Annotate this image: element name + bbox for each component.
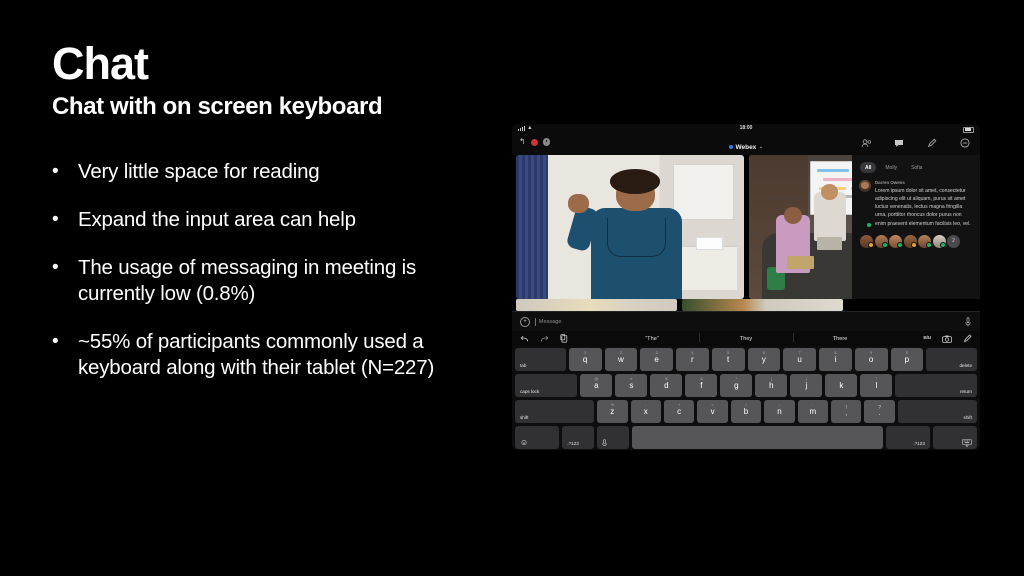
list-item: • ~55% of participants commonly used a k…	[52, 329, 482, 381]
slide: Chat Chat with on screen keyboard • Very…	[0, 0, 1024, 576]
list-item: • Very little space for reading	[52, 159, 482, 185]
key-k[interactable]: 'k	[825, 374, 857, 397]
key-l[interactable]: "l	[860, 374, 892, 397]
bullet-marker: •	[52, 255, 78, 281]
key-p[interactable]: 0p	[891, 348, 924, 371]
person-decor	[814, 192, 846, 241]
status-bar: ▲ 18:00	[512, 124, 980, 133]
avatar[interactable]	[889, 235, 902, 248]
key-r[interactable]: 4r	[676, 348, 709, 371]
filmstrip-thumb[interactable]	[516, 299, 677, 311]
keyboard-row-1: tab 1q 2w 3e 4r 5t 6y 7u 8i 9o 0p delete	[515, 348, 977, 371]
bullet-marker: •	[52, 159, 78, 185]
laptop-decor	[817, 237, 842, 250]
predictive-text-bar: “The” They There B/U	[512, 331, 980, 346]
chat-message-body: Darren Owens Lorem ipsum dolor sit amet,…	[875, 180, 973, 228]
text-cursor	[535, 318, 536, 326]
stethoscope-decor	[607, 218, 666, 256]
annotate-pencil-icon[interactable]	[926, 137, 938, 149]
keyboard-row-3: shift %z -x +c =v /b ;n :m !, ?. shift	[515, 400, 977, 423]
supply-box-decor	[696, 237, 723, 251]
chevron-down-icon[interactable]: ⌄	[759, 144, 763, 150]
message-input-placeholder: Message	[539, 319, 562, 325]
bullet-text: ~55% of participants commonly used a key…	[78, 329, 482, 381]
filmstrip-spacer	[848, 299, 976, 311]
avatar[interactable]	[904, 235, 917, 248]
list-item: • The usage of messaging in meeting is c…	[52, 255, 482, 307]
chat-panel: All Molly Sofia Darren Owens Lorem ipsum…	[852, 155, 980, 299]
person-face-decor	[821, 184, 838, 200]
participants-icon[interactable]	[860, 137, 872, 149]
key-m[interactable]: :m	[798, 400, 828, 423]
status-dot-icon	[729, 145, 733, 149]
battery-icon	[963, 127, 974, 133]
key-s[interactable]: #s	[615, 374, 647, 397]
key-t[interactable]: 5t	[712, 348, 745, 371]
attach-pencil-icon[interactable]	[963, 334, 972, 343]
participant-avatar-row: 2	[852, 228, 980, 248]
text-column: Chat Chat with on screen keyboard • Very…	[52, 40, 482, 403]
person-face-decor	[784, 207, 802, 224]
key-n[interactable]: ;n	[764, 400, 794, 423]
suggestion-2[interactable]: They	[699, 336, 793, 342]
bullet-text: Very little space for reading	[78, 159, 319, 185]
suggestion-3[interactable]: There	[793, 336, 887, 342]
chat-message-author: Darren Owens	[875, 180, 973, 185]
page-subtitle: Chat with on screen keyboard	[52, 93, 482, 121]
chat-message-text: Lorem ipsum dolor sit amet, consectetur …	[875, 187, 973, 228]
plus-circle-icon[interactable]: +	[520, 317, 530, 327]
video-stage: All Molly Sofia Darren Owens Lorem ipsum…	[512, 155, 980, 299]
chat-message: Darren Owens Lorem ipsum dolor sit amet,…	[852, 178, 980, 228]
keyboard-row-4: ☺ .?123 .?123	[515, 426, 977, 449]
bullet-marker: •	[52, 329, 78, 355]
laptop-decor	[787, 256, 814, 269]
key-return[interactable]: return	[895, 374, 977, 397]
avatar	[859, 180, 871, 192]
bullet-list: • Very little space for reading • Expand…	[52, 159, 482, 381]
key-hide-keyboard[interactable]	[933, 426, 977, 449]
key-u[interactable]: 7u	[783, 348, 816, 371]
curtain-decor	[516, 155, 548, 299]
dictation-icon	[602, 439, 607, 447]
text-format-icon[interactable]: B/U	[923, 336, 931, 341]
avatar[interactable]	[875, 235, 888, 248]
cabinet-decor	[673, 164, 734, 221]
avatar-overflow-badge[interactable]: 2	[947, 235, 960, 248]
key-j[interactable]: )j	[790, 374, 822, 397]
presence-dot-icon	[866, 222, 872, 228]
hair-decor	[610, 169, 660, 193]
avatar[interactable]	[860, 235, 873, 248]
key-i[interactable]: 8i	[819, 348, 852, 371]
avatar-wrap	[859, 180, 871, 228]
on-screen-keyboard: tab 1q 2w 3e 4r 5t 6y 7u 8i 9o 0p delete…	[512, 346, 980, 450]
clinician-video-art	[516, 155, 744, 299]
key-f[interactable]: &f	[685, 374, 717, 397]
key-shift-right[interactable]: shift	[898, 400, 977, 423]
key-o[interactable]: 9o	[855, 348, 888, 371]
key-z[interactable]: %z	[597, 400, 627, 423]
chat-tab-all[interactable]: All	[860, 162, 876, 173]
camera-icon[interactable]	[942, 335, 952, 343]
key-w[interactable]: 2w	[605, 348, 638, 371]
chat-filter-tabs: All Molly Sofia	[852, 155, 980, 178]
meeting-header-icons	[860, 137, 971, 149]
microphone-icon[interactable]	[965, 317, 971, 327]
chat-tab-molly[interactable]: Molly	[880, 162, 902, 173]
key-caps-lock[interactable]: caps lock	[515, 374, 577, 397]
editing-tools	[520, 334, 568, 343]
video-tile-clinician[interactable]	[516, 155, 744, 299]
key-emoji[interactable]: ☺	[515, 426, 559, 449]
key-e[interactable]: 3e	[640, 348, 673, 371]
key-a[interactable]: @a	[580, 374, 612, 397]
key-h[interactable]: (h	[755, 374, 787, 397]
emoji-icon: ☺	[520, 439, 528, 447]
key-q[interactable]: 1q	[569, 348, 602, 371]
suggestion-1[interactable]: “The”	[605, 336, 699, 342]
avatar[interactable]	[933, 235, 946, 248]
meeting-app-name-row: Webex ⌄	[729, 144, 763, 151]
filmstrip-thumb[interactable]	[682, 299, 843, 311]
bullet-marker: •	[52, 207, 78, 233]
hide-keyboard-icon	[962, 439, 972, 447]
key-x[interactable]: -x	[631, 400, 661, 423]
key-comma[interactable]: !,	[831, 400, 861, 423]
key-period[interactable]: ?.	[864, 400, 894, 423]
message-input-bar[interactable]: + Message	[512, 311, 980, 331]
more-options-icon[interactable]	[959, 137, 971, 149]
status-bar-time: 18:00	[512, 125, 980, 131]
key-numbers-right[interactable]: .?123	[886, 426, 930, 449]
key-tab[interactable]: tab	[515, 348, 566, 371]
key-dictation[interactable]	[597, 426, 629, 449]
tablet-mockup: ▲ 18:00 ↰ Webex ⌄ 12:40	[512, 124, 980, 450]
redo-icon[interactable]	[540, 335, 549, 343]
list-item: • Expand the input area can help	[52, 207, 482, 233]
bullet-text: Expand the input area can help	[78, 207, 356, 233]
key-shift-left[interactable]: shift	[515, 400, 594, 423]
key-delete[interactable]: delete	[926, 348, 977, 371]
predictive-suggestions: “The” They There	[512, 336, 980, 342]
page-title: Chat	[52, 40, 482, 87]
chat-tab-sofia[interactable]: Sofia	[906, 162, 927, 173]
meeting-app-name: Webex	[735, 144, 756, 151]
bullet-text: The usage of messaging in meeting is cur…	[78, 255, 482, 307]
key-space[interactable]	[632, 426, 882, 449]
waving-hand-decor	[568, 194, 588, 213]
chat-bubble-icon[interactable]	[893, 137, 905, 149]
meeting-header: ↰ Webex ⌄ 12:40	[512, 133, 980, 155]
avatar[interactable]	[918, 235, 931, 248]
paste-icon[interactable]	[560, 334, 568, 343]
format-tools: B/U	[923, 334, 972, 343]
key-d[interactable]: $d	[650, 374, 682, 397]
key-g[interactable]: *g	[720, 374, 752, 397]
key-y[interactable]: 6y	[748, 348, 781, 371]
key-c[interactable]: +c	[664, 400, 694, 423]
undo-icon[interactable]	[520, 335, 529, 343]
key-v[interactable]: =v	[697, 400, 727, 423]
key-b[interactable]: /b	[731, 400, 761, 423]
video-filmstrip	[512, 299, 980, 311]
key-numbers-left[interactable]: .?123	[562, 426, 594, 449]
keyboard-row-2: caps lock @a #s $d &f *g (h )j 'k "l ret…	[515, 374, 977, 397]
